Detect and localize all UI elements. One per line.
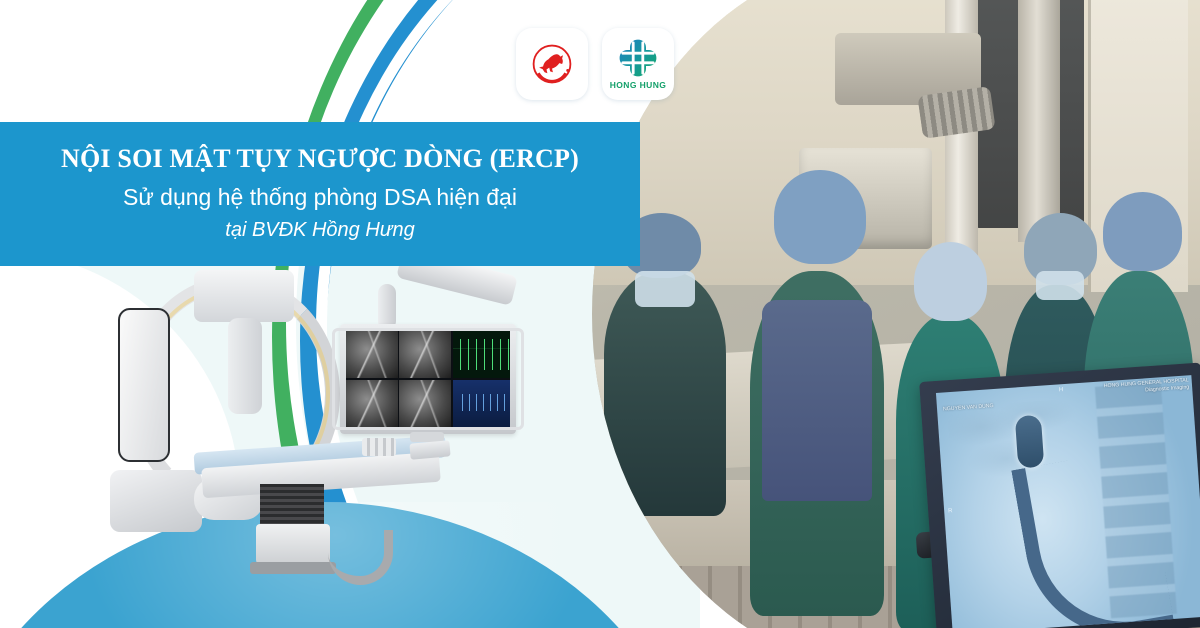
logo-group: HONG HUNG (516, 28, 674, 100)
hong-hung-logo-text: HONG HUNG (610, 80, 667, 90)
photo-staff-2-lead-apron (762, 300, 871, 502)
photo-staff-5-cap (1103, 192, 1182, 271)
table-control-levers (362, 438, 396, 456)
headline-band: NỘI SOI MẬT TỤY NGƯỢC DÒNG (ERCP) Sử dụn… (0, 122, 640, 266)
floor-stand-base (110, 470, 202, 532)
table-plinth (250, 562, 336, 574)
fluoroscopy-screen: HONG HUNG GENERAL HOSPITALDiagnostic Ima… (936, 375, 1200, 628)
table-bellows-column (260, 484, 324, 526)
hong-hung-hospital-logo-card: HONG HUNG (602, 28, 674, 100)
fluoroscopy-orientation-right: R (948, 508, 953, 514)
floor-cable (328, 530, 393, 585)
monitor-rail (332, 328, 524, 430)
tay-ninh-provincial-emblem-card (516, 28, 588, 100)
hong-hung-cross-icon (618, 38, 658, 78)
flat-panel-detector (118, 308, 170, 462)
c-arm-support (228, 318, 262, 414)
table-control-panel (409, 440, 450, 459)
ercp-promo-banner: HONG HUNG GENERAL HOSPITALDiagnostic Ima… (0, 0, 1200, 628)
fluoroscopy-bezel: HONG HUNG GENERAL HOSPITALDiagnostic Ima… (919, 362, 1200, 628)
page-title: NỘI SOI MẬT TỤY NGƯỢC DÒNG (ERCP) (61, 145, 579, 174)
photo-ceiling-column-2 (1018, 0, 1061, 242)
horse-emblem-icon (529, 41, 575, 87)
photo-staff-4-mask (1036, 271, 1085, 300)
fluoroscopy-orientation-head: H (1059, 387, 1064, 393)
fluoroscopy-monitor: HONG HUNG GENERAL HOSPITALDiagnostic Ima… (919, 362, 1200, 628)
page-subtitle: Sử dụng hệ thống phòng DSA hiện đại (123, 185, 517, 210)
xray-tube-head (194, 270, 294, 322)
photo-staff-2-cap (774, 170, 865, 264)
table-foot (256, 524, 330, 564)
dsa-angiography-system-illustration (110, 262, 540, 592)
fluoroscopy-hospital-label: HONG HUNG GENERAL HOSPITALDiagnostic Ima… (1104, 377, 1190, 397)
ercp-endoscope (1015, 408, 1147, 619)
photo-staff-3-cap (914, 242, 987, 321)
page-location: tại BVĐK Hồng Hưng (225, 219, 414, 241)
endoscope-tip (1015, 415, 1045, 469)
